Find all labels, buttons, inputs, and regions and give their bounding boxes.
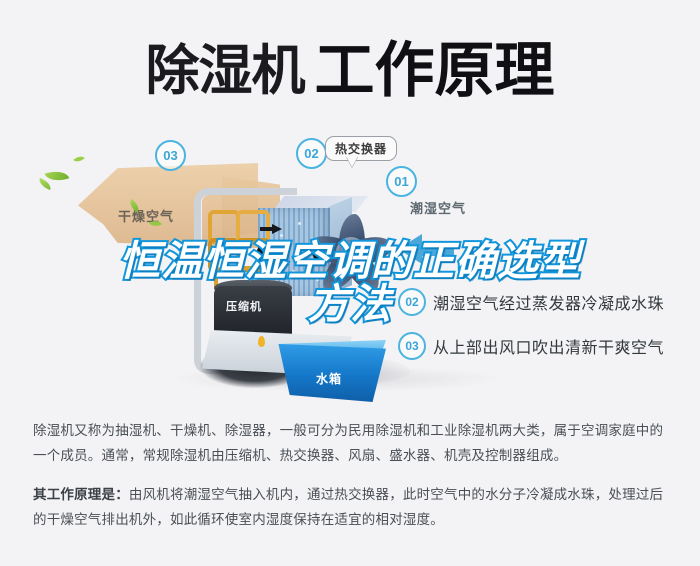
page-title-part1: 除湿机 — [146, 41, 305, 101]
legend-marker-02: 02 — [398, 288, 426, 316]
leaf-icon — [37, 178, 53, 190]
page-title-part2: 工作原理 — [315, 37, 555, 104]
legend-text-02: 潮湿空气经过蒸发器冷凝成水珠 — [433, 290, 664, 314]
flow-arrow-right-icon — [272, 224, 282, 234]
list-item: 02 潮湿空气经过蒸发器冷凝成水珠 — [398, 288, 688, 316]
humid-air-label: 潮湿空气 — [410, 198, 466, 217]
water-tank-label: 水箱 — [316, 370, 342, 387]
dry-air-label: 干燥空气 — [118, 206, 174, 225]
flow-arrow-right-bar-icon — [260, 227, 273, 231]
list-item: 03 从上部出风口吹出清新干爽空气 — [398, 332, 688, 360]
body-paragraph-2: 其工作原理是：由风机将潮湿空气抽入机内，通过热交换器，此时空气中的水分子冷凝成水… — [33, 482, 669, 532]
body-copy: 除湿机又称为抽湿机、干燥机、除湿器，一般可分为民用除湿机和工业除湿机两大类，属于… — [33, 418, 669, 546]
leaf-icon — [73, 153, 85, 164]
diagram-marker-03: 03 — [155, 140, 186, 171]
page-title: 除湿机工作原理 — [0, 22, 700, 109]
water-drip-icon — [258, 336, 265, 347]
body-paragraph-2-lead: 其工作原理是： — [33, 487, 129, 502]
legend-list: 02 潮湿空气经过蒸发器冷凝成水珠 03 从上部出风口吹出清新干爽空气 — [398, 288, 688, 376]
body-paragraph-1: 除湿机又称为抽湿机、干燥机、除湿器，一般可分为民用除湿机和工业除湿机两大类，属于… — [33, 418, 669, 468]
infographic-page: 除湿机工作原理 干燥空气 潮湿空气 03 02 01 热交换器 — [0, 0, 700, 566]
legend-text-03: 从上部出风口吹出清新干爽空气 — [433, 334, 664, 358]
overlay-headline-line1: 恒温恒湿空调的正确选型 — [0, 240, 700, 283]
legend-marker-03: 03 — [398, 332, 426, 360]
